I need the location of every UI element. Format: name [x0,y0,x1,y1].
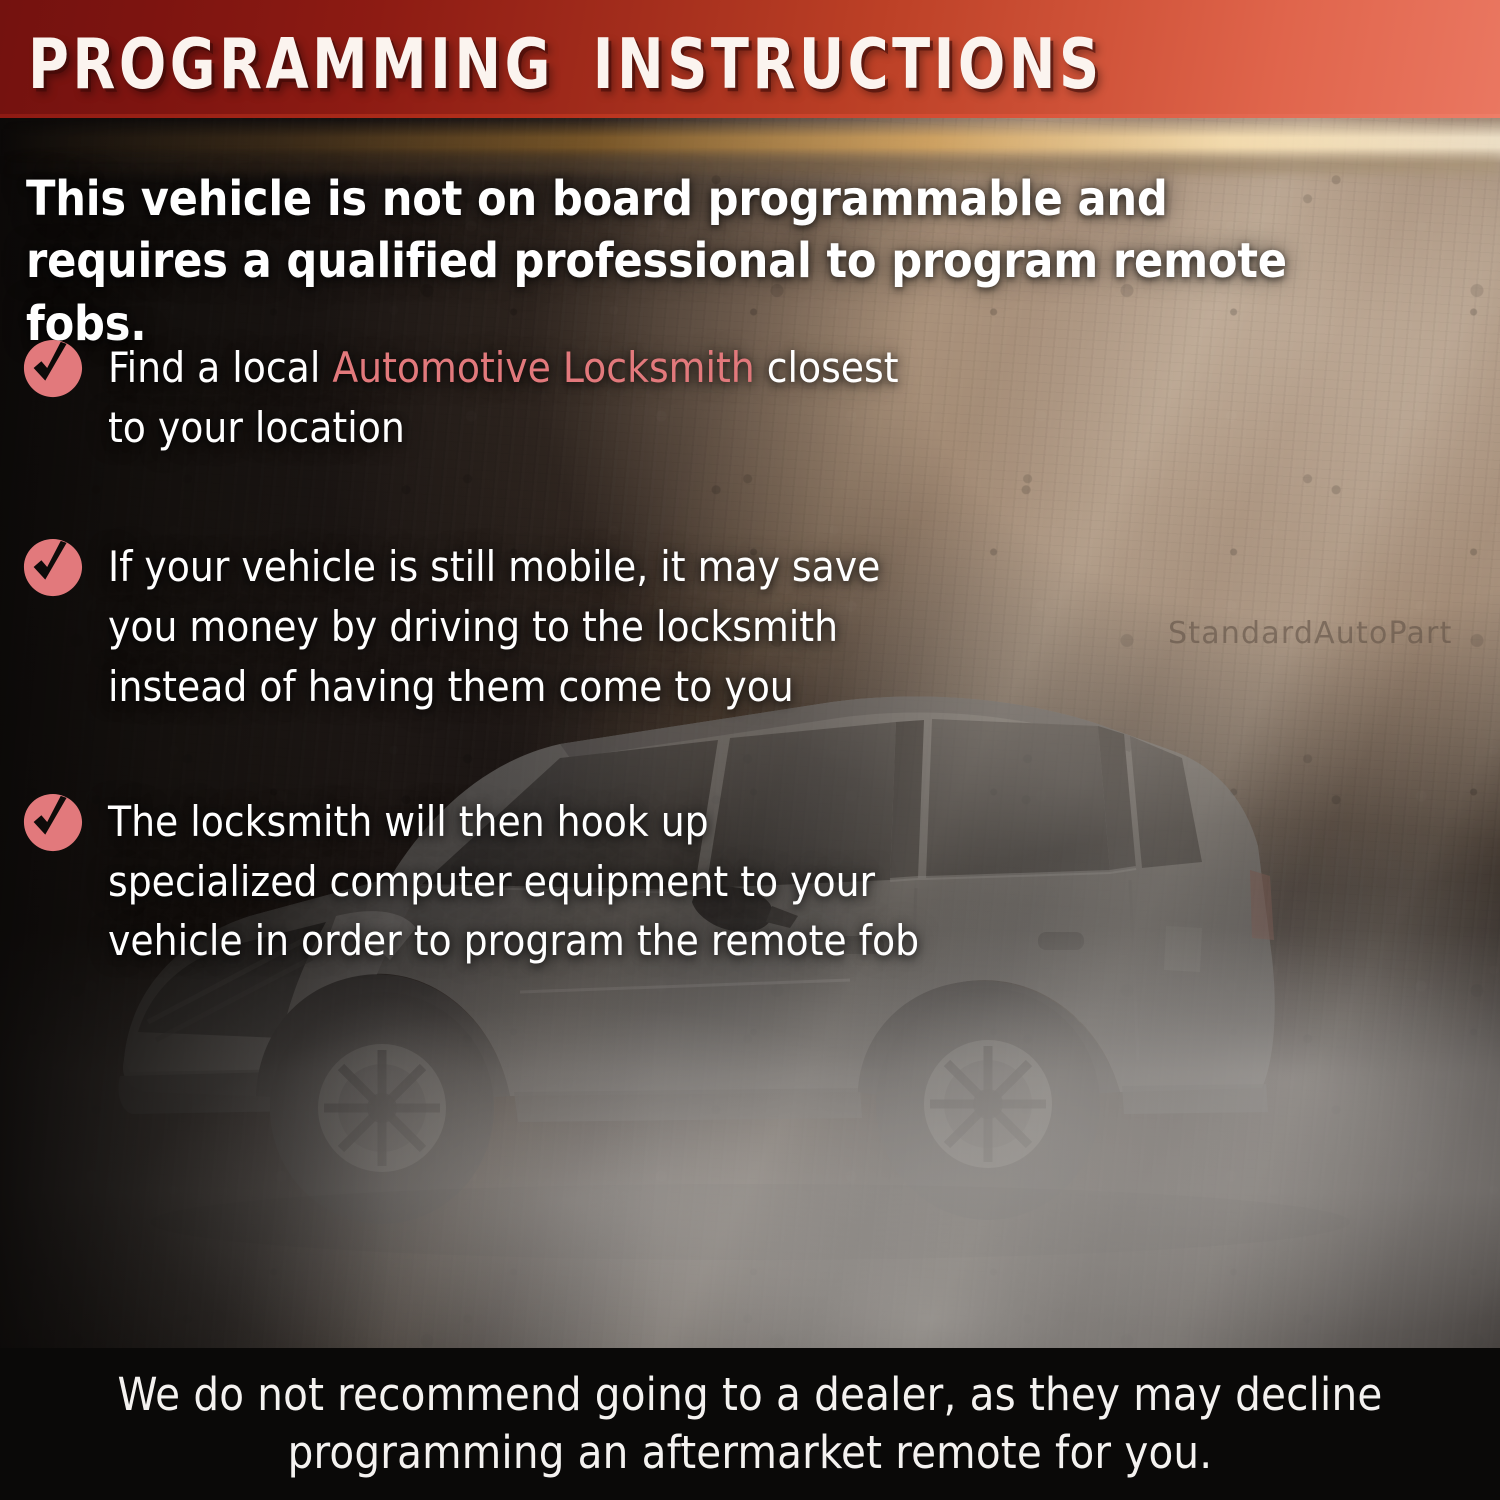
watermark-label: StandardAutoPart [1168,616,1453,651]
programming-instructions-poster: PROGRAMMING INSTRUCTIONS This vehicle is… [0,0,1500,1500]
check-circle-icon [22,792,84,854]
list-item: Find a local Automotive Locksmith closes… [22,336,922,457]
list-item-text-before: Find a local [108,343,332,392]
list-item-highlight: Automotive Locksmith [332,343,754,392]
footer-note: We do not recommend going to a dealer, a… [0,1366,1500,1483]
list-item: If your vehicle is still mobile, it may … [22,535,922,716]
footer-banner: We do not recommend going to a dealer, a… [0,1348,1500,1500]
list-item: The locksmith will then hook up speciali… [22,790,922,971]
list-item-text: If your vehicle is still mobile, it may … [108,535,922,716]
header-banner: PROGRAMMING INSTRUCTIONS [0,0,1500,118]
list-item-text: The locksmith will then hook up speciali… [108,790,922,971]
page-title: PROGRAMMING INSTRUCTIONS [28,30,1103,99]
list-item-text: Find a local Automotive Locksmith closes… [108,336,922,457]
subtitle-statement: This vehicle is not on board programmabl… [26,168,1366,355]
instruction-list: Find a local Automotive Locksmith closes… [22,336,922,971]
check-circle-icon [22,537,84,599]
check-circle-icon [22,338,84,400]
